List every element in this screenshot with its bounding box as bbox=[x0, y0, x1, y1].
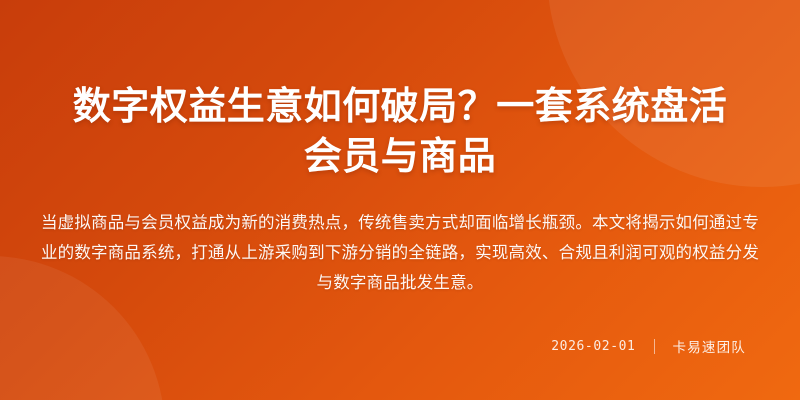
article-summary: 当虚拟商品与会员权益成为新的消费热点，传统售卖方式却面临增长瓶颈。本文将揭示如何… bbox=[40, 208, 760, 298]
cover-content: 数字权益生意如何破局？一套系统盘活 会员与商品 当虚拟商品与会员权益成为新的消费… bbox=[0, 0, 800, 400]
author-name: 卡易速团队 bbox=[673, 336, 747, 356]
article-cover-card: 数字权益生意如何破局？一套系统盘活 会员与商品 当虚拟商品与会员权益成为新的消费… bbox=[0, 0, 800, 400]
summary-block: 当虚拟商品与会员权益成为新的消费热点，传统售卖方式却面临增长瓶颈。本文将揭示如何… bbox=[32, 208, 768, 298]
publish-date: 2026-02-01 bbox=[551, 339, 635, 354]
meta-separator bbox=[654, 339, 655, 354]
cover-meta: 2026-02-01 卡易速团队 bbox=[32, 336, 768, 356]
page-title: 数字权益生意如何破局？一套系统盘活 会员与商品 bbox=[32, 82, 768, 182]
title-block: 数字权益生意如何破局？一套系统盘活 会员与商品 bbox=[32, 82, 768, 182]
